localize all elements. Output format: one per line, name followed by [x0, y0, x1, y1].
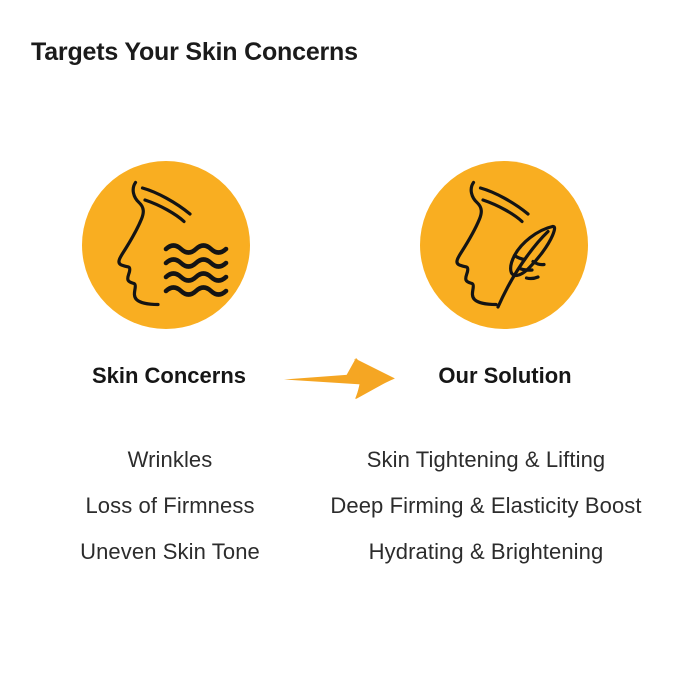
page-title: Targets Your Skin Concerns [31, 38, 358, 67]
face-profile-feather-icon [420, 161, 588, 329]
list-item: Loss of Firmness [20, 483, 320, 529]
list-item: Hydrating & Brightening [300, 529, 672, 575]
column-label-skin-concerns: Skin Concerns [44, 363, 294, 389]
list-item: Skin Tightening & Lifting [300, 437, 672, 483]
skin-concerns-icon-badge [82, 161, 250, 329]
list-item: Uneven Skin Tone [20, 529, 320, 575]
face-profile-wrinkles-icon [82, 161, 250, 329]
our-solution-icon-badge [420, 161, 588, 329]
list-item: Wrinkles [20, 437, 320, 483]
column-label-our-solution: Our Solution [380, 363, 630, 389]
our-solution-list: Skin Tightening & Lifting Deep Firming &… [300, 437, 672, 575]
skin-concerns-list: Wrinkles Loss of Firmness Uneven Skin To… [20, 437, 320, 575]
list-item: Deep Firming & Elasticity Boost [300, 483, 672, 529]
